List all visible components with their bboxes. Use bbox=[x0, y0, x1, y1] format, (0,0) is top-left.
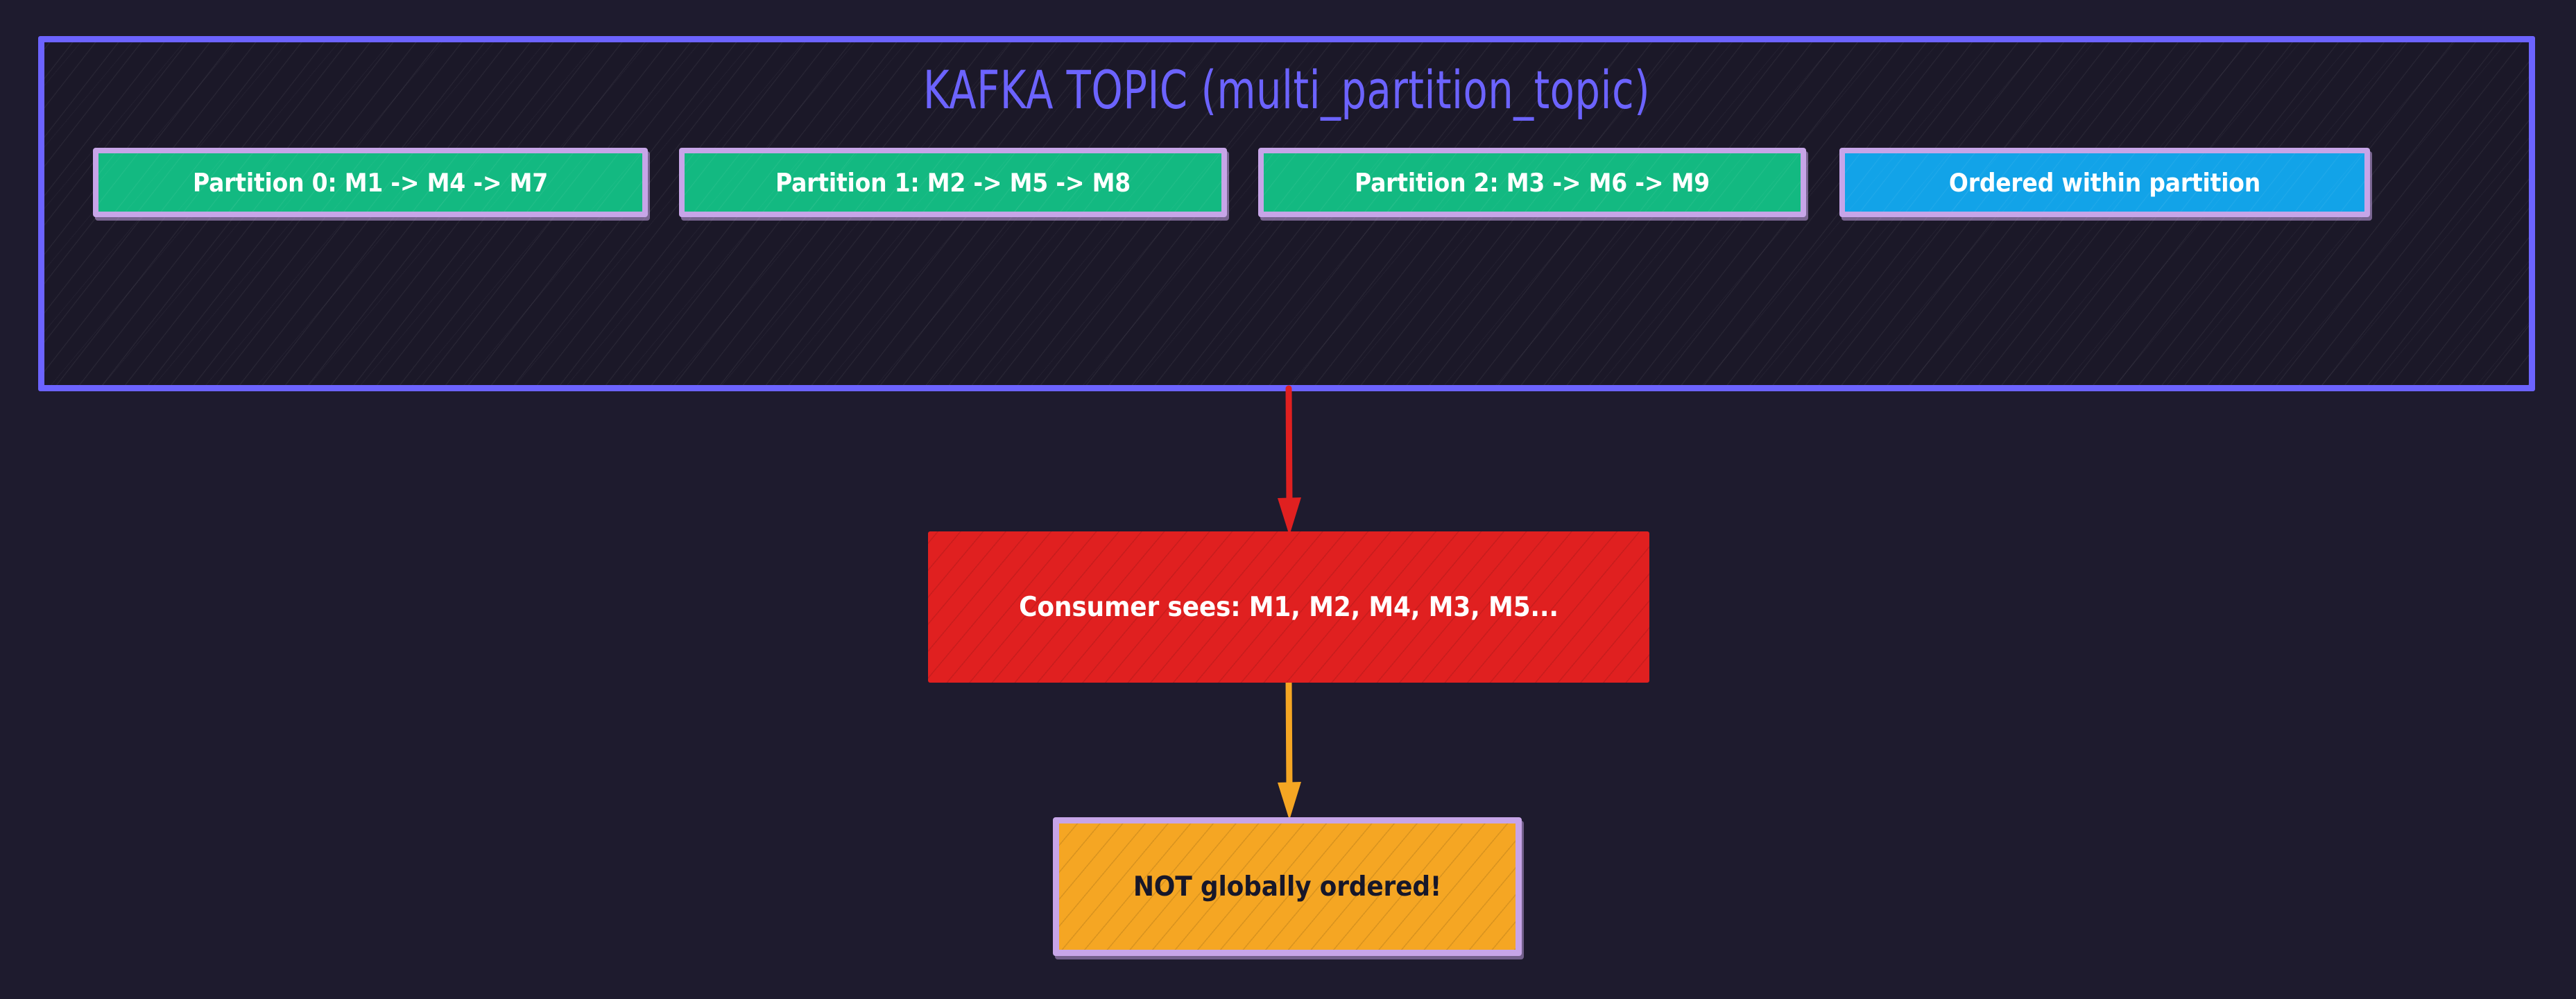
consumer-label: Consumer sees: M1, M2, M4, M3, M5... bbox=[1019, 591, 1559, 622]
partition-0-box[interactable]: Partition 0: M1 -> M4 -> M7 bbox=[93, 148, 648, 217]
partition-1-box[interactable]: Partition 1: M2 -> M5 -> M8 bbox=[679, 148, 1227, 217]
ordering-note-label: Ordered within partition bbox=[1949, 168, 2260, 198]
partitions-row: Partition 0: M1 -> M4 -> M7 Partition 1:… bbox=[69, 148, 2517, 217]
partition-2-label: Partition 2: M3 -> M6 -> M9 bbox=[1355, 168, 1710, 198]
conclusion-label: NOT globally ordered! bbox=[1133, 871, 1441, 902]
partition-2-box[interactable]: Partition 2: M3 -> M6 -> M9 bbox=[1258, 148, 1806, 217]
arrow-consumer-to-conclusion-icon bbox=[1248, 680, 1332, 822]
arrow-topic-to-consumer-icon bbox=[1248, 387, 1332, 537]
ordering-note-box[interactable]: Ordered within partition bbox=[1839, 148, 2370, 217]
partition-0-label: Partition 0: M1 -> M4 -> M7 bbox=[193, 168, 548, 198]
consumer-box[interactable]: Consumer sees: M1, M2, M4, M3, M5... bbox=[928, 531, 1649, 683]
kafka-topic-container: KAFKA TOPIC (multi_partition_topic) Part… bbox=[38, 36, 2535, 391]
kafka-topic-title: KAFKA TOPIC (multi_partition_topic) bbox=[131, 59, 2441, 121]
conclusion-box[interactable]: NOT globally ordered! bbox=[1053, 817, 1522, 956]
diagram-canvas: KAFKA TOPIC (multi_partition_topic) Part… bbox=[0, 0, 2576, 999]
partition-1-label: Partition 1: M2 -> M5 -> M8 bbox=[775, 168, 1131, 198]
